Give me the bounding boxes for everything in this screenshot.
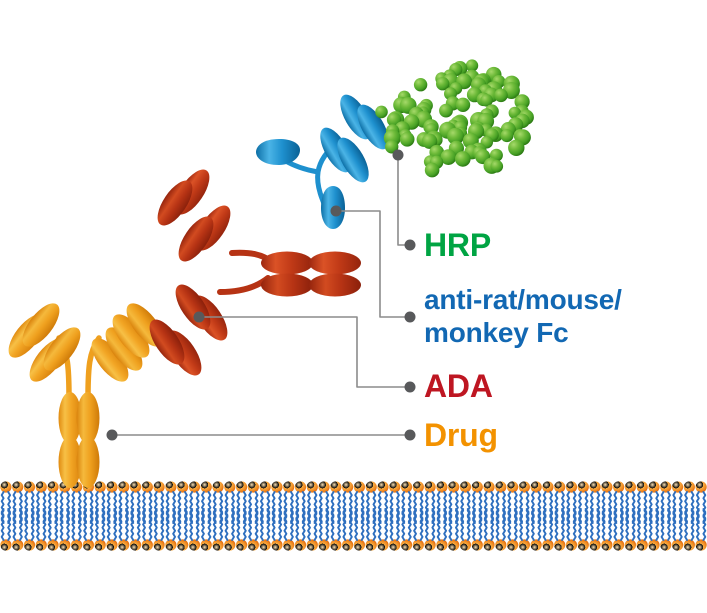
drug-antibody [2, 297, 170, 488]
label-anti-fc-line1: anti-rat/mouse/ [424, 283, 622, 316]
hrp-sphere [414, 78, 427, 91]
anchor-dot-ada-label [405, 382, 416, 393]
hrp-sphere [456, 98, 470, 112]
anchor-dot-drug-label [405, 430, 416, 441]
anchor-dot-anti-fc-source [331, 206, 342, 217]
hrp-sphere [400, 132, 415, 147]
hrp-sphere [494, 89, 508, 103]
leader-hrp [398, 155, 410, 245]
hrp-sphere [425, 163, 440, 178]
leader-anchor-dots [107, 150, 416, 441]
hrp-sphere [501, 129, 514, 142]
diagram-canvas: HRP anti-rat/mouse/ monkey Fc ADA Drug [0, 0, 707, 613]
anchor-dot-hrp-label [405, 240, 416, 251]
leader-lines [112, 155, 410, 435]
hrp-sphere [455, 151, 471, 167]
anchor-dot-drug-source [107, 430, 118, 441]
anchor-dot-anti-fc-label [405, 312, 416, 323]
hrp-sphere [491, 160, 504, 173]
label-hrp: HRP [424, 227, 491, 263]
lipid-bilayer-membrane [0, 481, 706, 550]
anti-fc-antibody [256, 90, 395, 229]
label-anti-fc-line2: monkey Fc [424, 316, 622, 349]
label-ada: ADA [424, 368, 493, 404]
hrp-sphere [508, 140, 524, 156]
hrp-sphere [439, 104, 453, 118]
anchor-dot-hrp-source [393, 150, 404, 161]
label-drug: Drug [424, 417, 498, 453]
hrp-sphere [375, 106, 388, 119]
anchor-dot-ada-source [194, 312, 205, 323]
leader-ada [199, 317, 410, 387]
label-anti-fc: anti-rat/mouse/ monkey Fc [424, 283, 622, 349]
